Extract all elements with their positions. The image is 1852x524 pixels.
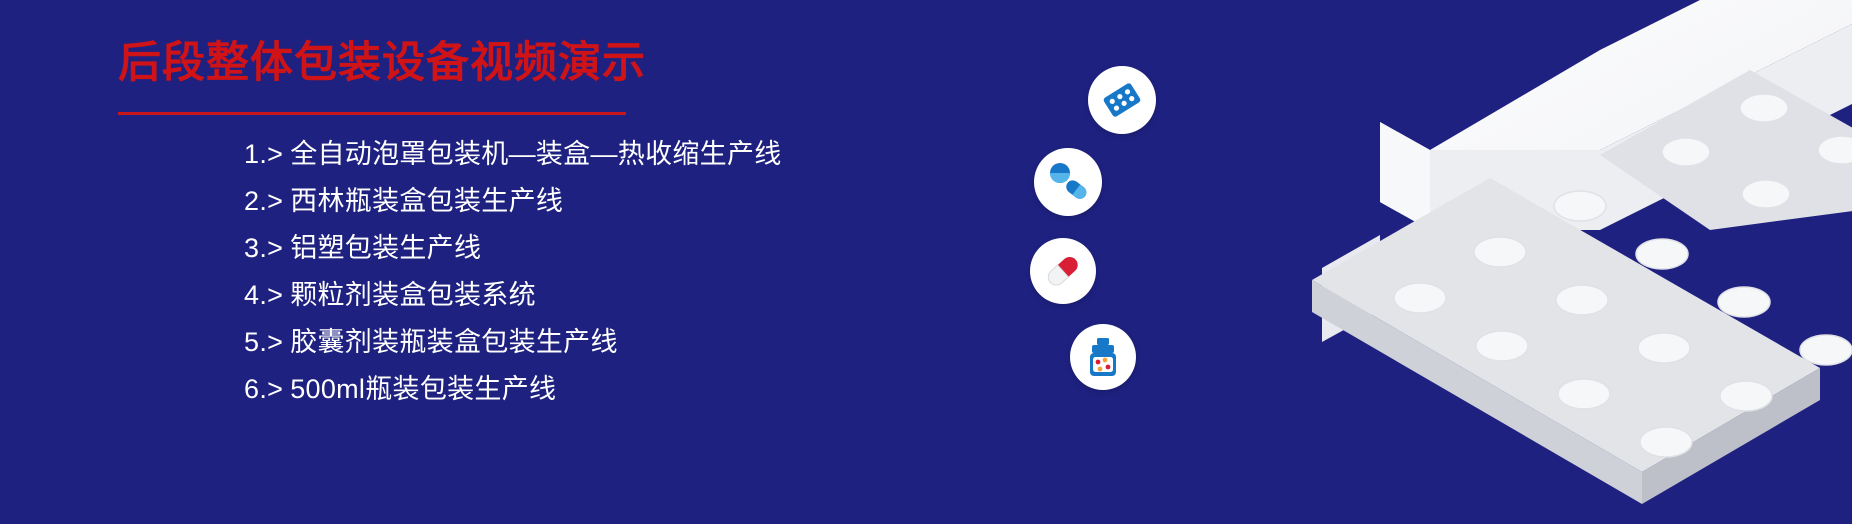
- text-block: 后段整体包装设备视频演示 1.>全自动泡罩包装机—装盒—热收缩生产线 2.>西林…: [0, 0, 1000, 524]
- list-item-label: 500ml瓶装包装生产线: [290, 366, 556, 413]
- page-title: 后段整体包装设备视频演示: [118, 40, 646, 87]
- list-item-number: 1.>: [244, 131, 283, 178]
- list-item[interactable]: 3.>铝塑包装生产线: [244, 225, 782, 272]
- medicine-bottle-icon: [1070, 324, 1136, 390]
- list-item-number: 6.>: [244, 366, 283, 413]
- pills-icon: [1034, 148, 1102, 216]
- list-item[interactable]: 5.>胶囊剂装瓶装盒包装生产线: [244, 319, 782, 366]
- list-item-label: 西林瓶装盒包装生产线: [290, 178, 563, 225]
- list-item[interactable]: 2.>西林瓶装盒包装生产线: [244, 178, 782, 225]
- list-item-number: 2.>: [244, 178, 283, 225]
- list-item[interactable]: 6.>500ml瓶装包装生产线: [244, 366, 782, 413]
- list-item[interactable]: 1.>全自动泡罩包装机—装盒—热收缩生产线: [244, 131, 782, 178]
- list-item-label: 胶囊剂装瓶装盒包装生产线: [290, 319, 618, 366]
- list-item-number: 4.>: [244, 272, 283, 319]
- capsule-icon: [1030, 238, 1096, 304]
- promo-banner: 后段整体包装设备视频演示 1.>全自动泡罩包装机—装盒—热收缩生产线 2.>西林…: [0, 0, 1852, 524]
- list-item-label: 全自动泡罩包装机—装盒—热收缩生产线: [290, 131, 781, 178]
- video-list: 1.>全自动泡罩包装机—装盒—热收缩生产线 2.>西林瓶装盒包装生产线 3.>铝…: [244, 131, 782, 413]
- list-item-number: 5.>: [244, 319, 283, 366]
- list-item[interactable]: 4.>颗粒剂装盒包装系统: [244, 272, 782, 319]
- blister-pack-carton-illustration: [1130, 0, 1852, 524]
- title-underline: [118, 112, 626, 115]
- list-item-label: 颗粒剂装盒包装系统: [290, 272, 536, 319]
- list-item-number: 3.>: [244, 225, 283, 272]
- list-item-label: 铝塑包装生产线: [290, 225, 481, 272]
